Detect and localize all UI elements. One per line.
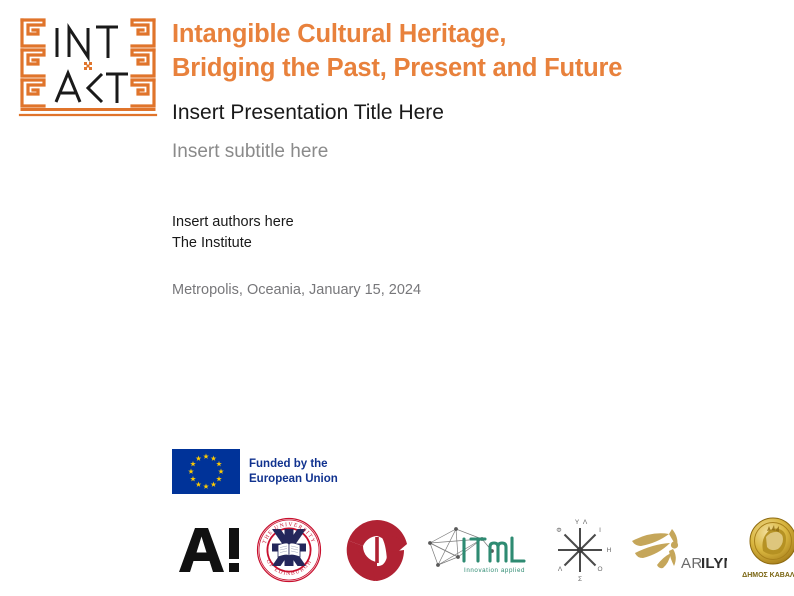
compass-letter-phi: Φ xyxy=(556,527,561,534)
eu-funding-block: Funded by the European Union xyxy=(172,449,338,494)
itml-tagline: Innovation applied xyxy=(464,567,525,574)
project-title: Intangible Cultural Heritage, Bridging t… xyxy=(172,18,772,85)
institute-line: The Institute xyxy=(172,233,692,254)
compass-letter-sigma: Σ xyxy=(578,576,582,583)
arilyn-wordmark-bold: ILYN xyxy=(701,555,727,572)
compass-letter-upsilon: Υ xyxy=(575,519,580,526)
project-title-line-1: Intangible Cultural Heritage, xyxy=(172,18,772,52)
compass-letter-lambda: Λ xyxy=(583,519,588,526)
arilyn-wordmark-light: AR xyxy=(681,555,703,572)
partner-logo-row: THE UNIVERSITY OF EDINBURGH xyxy=(172,512,780,588)
project-title-line-2: Bridging the Past, Present and Future xyxy=(172,52,772,86)
partner-logo-arilyn: AR ILYN xyxy=(626,514,730,586)
partner-logo-edinburgh: THE UNIVERSITY OF EDINBURGH xyxy=(246,514,332,586)
partner-logo-aalto xyxy=(172,514,246,586)
compass-letter-eta: Η xyxy=(607,547,612,554)
authors-block: Insert authors here The Institute xyxy=(172,212,692,254)
presentation-slide: Intangible Cultural Heritage, Bridging t… xyxy=(0,0,794,596)
authors-line: Insert authors here xyxy=(172,212,692,233)
eu-funding-label-line-1: Funded by the xyxy=(249,457,338,471)
partner-logo-compass: Υ Λ Ι Η Ο Σ Λ Φ xyxy=(534,514,626,586)
compass-letter-iota: Ι xyxy=(599,527,601,534)
european-union-flag-icon xyxy=(172,449,240,494)
partner-logo-itml: Innovation applied xyxy=(422,514,534,586)
eu-funding-label-line-2: European Union xyxy=(249,472,338,486)
kavala-label: ΔΗΜΟΣ ΚΑΒΑΛΑΣ xyxy=(742,572,794,579)
presentation-subtitle: Insert subtitle here xyxy=(172,141,772,164)
compass-letter-lambda-2: Λ xyxy=(558,566,563,573)
eu-funding-label: Funded by the European Union xyxy=(249,457,338,486)
venue-and-date: Metropolis, Oceania, January 15, 2024 xyxy=(172,280,692,300)
presentation-title: Insert Presentation Title Here xyxy=(172,100,772,125)
logo-ornament xyxy=(84,62,92,70)
compass-letter-omicron: Ο xyxy=(597,566,602,573)
intact-logo xyxy=(14,12,162,120)
partner-logo-kavala: ΔΗΜΟΣ ΚΑΒΑΛΑΣ xyxy=(730,514,794,586)
partner-logo-red-emblem xyxy=(332,514,422,586)
